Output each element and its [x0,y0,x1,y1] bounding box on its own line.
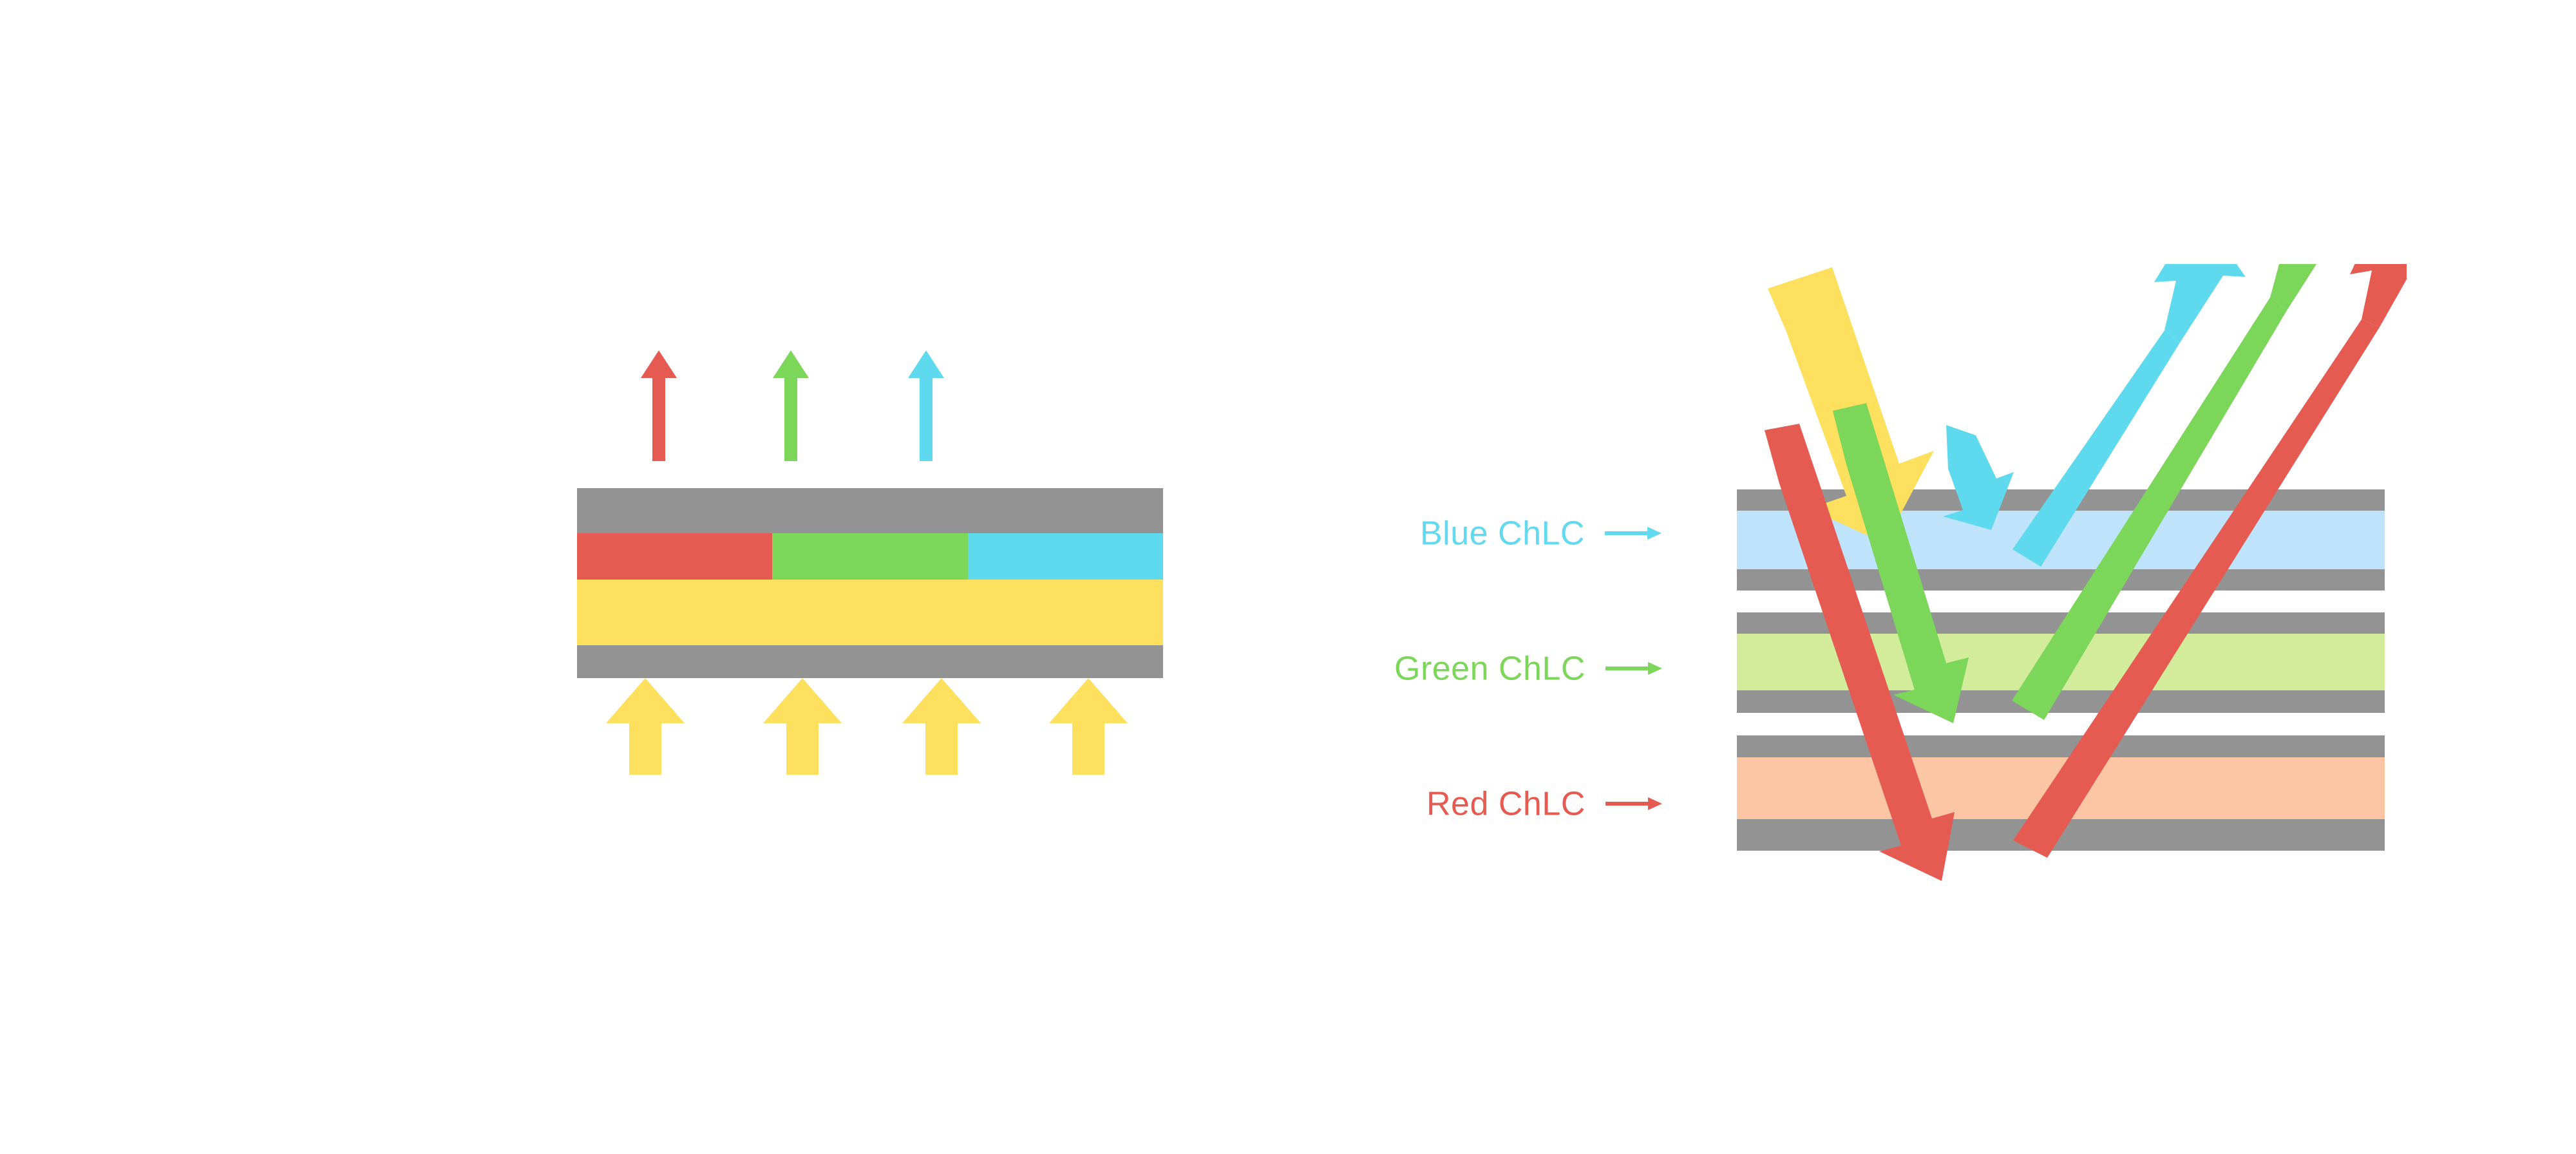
green-filter-segment [772,533,967,580]
red-top-electrode [1737,735,2385,757]
backlight-arrow-3 [901,678,982,775]
green-emission-arrow [772,350,810,461]
emitted-light-arrows [577,322,1163,488]
chlc-reflective-stack-panel [1737,277,2387,876]
gap-1 [1737,591,2385,612]
blue-chlc-layer [1737,511,2385,569]
blue-filter-segment [968,533,1163,580]
backlight-arrow-2 [762,678,843,775]
blue-bottom-electrode [1737,569,2385,591]
green-top-electrode [1737,612,2385,634]
blue-chlc-label: Blue ChLC [1420,512,1662,553]
red-filter-segment [577,533,772,580]
backlight-arrow-1 [605,678,686,775]
green-chlc-layer [1737,634,2385,690]
red-emission-arrow [639,350,678,461]
gap-2 [1737,713,2385,735]
backlight-arrow-4 [1048,678,1129,775]
rgb-color-filter-layer [577,533,1163,580]
cyan-emission-arrow [907,350,945,461]
green-chlc-label: Green ChLC [1394,647,1662,688]
top-electrode-layer [577,488,1163,533]
red-label-arrow-icon [1605,793,1662,815]
blue-chlc-label-text: Blue ChLC [1420,515,1585,552]
green-label-arrow-icon [1605,657,1662,679]
backlight-layer [577,580,1163,645]
red-chlc-label-text: Red ChLC [1426,785,1586,822]
right-layer-stack [1737,489,2385,851]
red-chlc-layer [1737,757,2385,819]
backlight-pump-arrows [577,678,1163,807]
blue-label-arrow-icon [1605,522,1662,544]
bottom-electrode-layer [577,645,1163,678]
diagram-canvas: Blue ChLC Green ChLC Red ChLC [0,0,2576,1154]
left-layer-stack [577,488,1163,678]
red-chlc-label: Red ChLC [1426,782,1662,823]
blue-top-electrode [1737,489,2385,511]
green-chlc-label-text: Green ChLC [1394,650,1586,687]
red-bottom-electrode [1737,819,2385,851]
emissive-stack-panel [577,322,1163,811]
green-bottom-electrode [1737,690,2385,713]
